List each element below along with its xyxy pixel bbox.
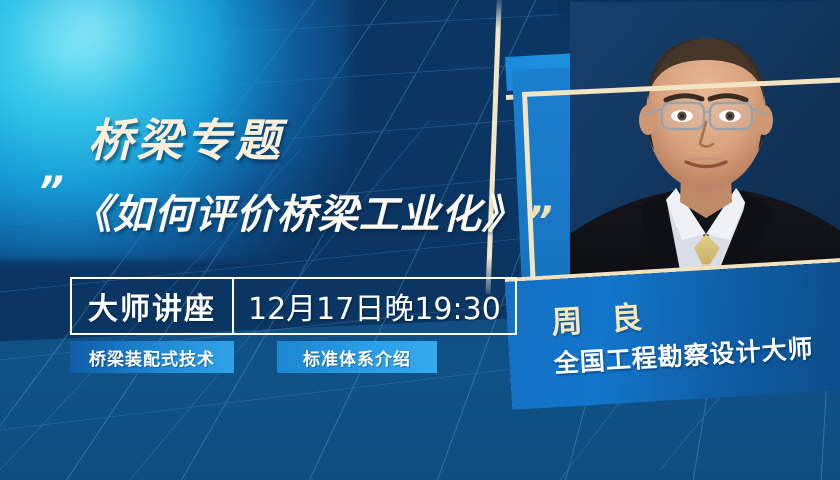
topic-tag-2: 标准体系介绍: [277, 341, 437, 373]
speaker-banner: 周 良 全国工程勘察设计大师: [505, 262, 840, 410]
page-title: 桥梁专题: [88, 104, 284, 169]
webinar-poster: 周 良 全国工程勘察设计大师 桥梁专题 ” 《如何评价桥梁工业化》 ” 大师讲座…: [0, 0, 840, 480]
lecture-label: 大师讲座: [72, 279, 232, 333]
quotation-mark-close-icon: ”: [527, 202, 553, 242]
lecture-date: 12月17日晚19:30: [234, 279, 515, 333]
subtitle-row: ” 《如何评价桥梁工业化》 ”: [38, 168, 553, 240]
quotation-mark-open-icon: ”: [38, 172, 64, 212]
lecture-info-box: 大师讲座 12月17日晚19:30: [70, 277, 517, 335]
topic-tag-1: 桥梁装配式技术: [70, 341, 234, 373]
page-subtitle: 《如何评价桥梁工业化》: [72, 182, 523, 240]
